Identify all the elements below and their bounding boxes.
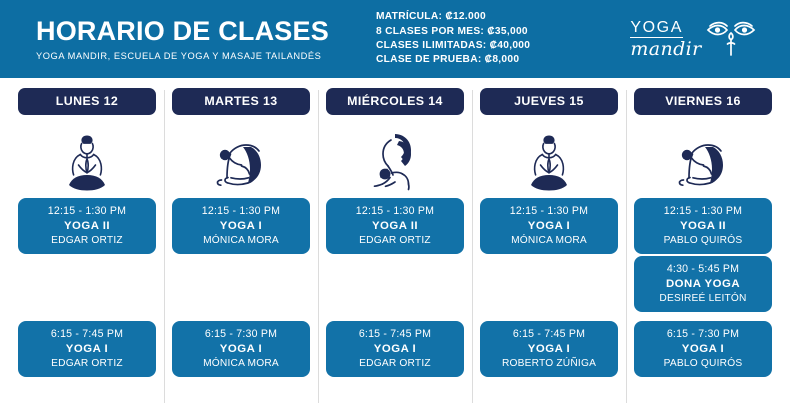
slot-midday-viernes: 4:30 - 5:45 PM DONA YOGA DESIREÉ LEITÓN bbox=[634, 254, 772, 315]
kneeling-backbend-pose-icon bbox=[207, 131, 275, 193]
class-teacher: EDGAR ORTIZ bbox=[330, 235, 460, 246]
logo-text-yoga: YOGA bbox=[630, 20, 683, 38]
class-name: YOGA I bbox=[22, 343, 152, 355]
slot-morning-viernes: 12:15 - 1:30 PM YOGA II PABLO QUIRÓS bbox=[634, 115, 772, 254]
class-card[interactable]: 12:15 - 1:30 PM YOGA II PABLO QUIRÓS bbox=[634, 198, 772, 254]
class-time: 6:15 - 7:45 PM bbox=[22, 328, 152, 340]
slot-evening-miercoles: 6:15 - 7:45 PM YOGA I EDGAR ORTIZ bbox=[326, 315, 464, 407]
day-column-viernes: VIERNES 16 bbox=[626, 88, 780, 407]
class-teacher: DESIREÉ LEITÓN bbox=[638, 293, 768, 304]
class-card[interactable]: 6:15 - 7:30 PM YOGA I MÓNICA MORA bbox=[172, 321, 310, 377]
header-title-block: HORARIO DE CLASES YOGA MANDIR, ESCUELA D… bbox=[0, 17, 376, 61]
class-time: 12:15 - 1:30 PM bbox=[176, 205, 306, 217]
class-name: YOGA I bbox=[330, 343, 460, 355]
class-time: 6:15 - 7:30 PM bbox=[176, 328, 306, 340]
class-time: 12:15 - 1:30 PM bbox=[22, 205, 152, 217]
slot-morning-lunes: 12:15 - 1:30 PM YOGA II EDGAR ORTIZ bbox=[18, 115, 156, 254]
slot-evening-martes: 6:15 - 7:30 PM YOGA I MÓNICA MORA bbox=[172, 315, 310, 407]
day-column-lunes: LUNES 12 bbox=[10, 88, 164, 407]
class-name: YOGA II bbox=[638, 220, 768, 232]
lotus-meditation-pose-icon bbox=[518, 131, 580, 193]
class-teacher: EDGAR ORTIZ bbox=[22, 235, 152, 246]
price-item-8-clases: 8 CLASES POR MES: ₡35,000 bbox=[376, 25, 616, 39]
slot-midday-miercoles bbox=[326, 254, 464, 315]
day-column-martes: MARTES 13 bbox=[164, 88, 318, 407]
schedule-grid: LUNES 12 bbox=[0, 78, 790, 413]
class-time: 12:15 - 1:30 PM bbox=[638, 205, 768, 217]
page-subtitle: YOGA MANDIR, ESCUELA DE YOGA Y MASAJE TA… bbox=[36, 51, 376, 61]
day-header-martes[interactable]: MARTES 13 bbox=[172, 88, 310, 115]
class-teacher: MÓNICA MORA bbox=[176, 235, 306, 246]
price-item-ilimitadas: CLASES ILIMITADAS: ₡40,000 bbox=[376, 39, 616, 53]
class-card[interactable]: 6:15 - 7:45 PM YOGA I ROBERTO ZÚÑIGA bbox=[480, 321, 618, 377]
class-name: YOGA I bbox=[484, 343, 614, 355]
day-column-jueves: JUEVES 15 bbox=[472, 88, 626, 407]
class-time: 4:30 - 5:45 PM bbox=[638, 263, 768, 275]
slot-midday-lunes bbox=[18, 254, 156, 315]
lotus-meditation-pose-icon bbox=[56, 131, 118, 193]
class-card[interactable]: 12:15 - 1:30 PM YOGA I MÓNICA MORA bbox=[480, 198, 618, 254]
class-name: YOGA I bbox=[638, 343, 768, 355]
forearm-stand-scorpion-pose-icon bbox=[365, 131, 425, 193]
day-header-viernes[interactable]: VIERNES 16 bbox=[634, 88, 772, 115]
slot-midday-jueves bbox=[480, 254, 618, 315]
class-teacher: MÓNICA MORA bbox=[484, 235, 614, 246]
pricing-list: MATRÍCULA: ₡12.000 8 CLASES POR MES: ₡35… bbox=[376, 10, 616, 68]
class-time: 12:15 - 1:30 PM bbox=[484, 205, 614, 217]
day-header-miercoles[interactable]: MIÉRCOLES 14 bbox=[326, 88, 464, 115]
class-teacher: EDGAR ORTIZ bbox=[22, 358, 152, 369]
slot-midday-martes bbox=[172, 254, 310, 315]
slot-morning-jueves: 12:15 - 1:30 PM YOGA I MÓNICA MORA bbox=[480, 115, 618, 254]
brand-logo: YOGA mandir bbox=[616, 17, 790, 62]
class-time: 6:15 - 7:45 PM bbox=[484, 328, 614, 340]
class-card[interactable]: 6:15 - 7:45 PM YOGA I EDGAR ORTIZ bbox=[18, 321, 156, 377]
class-card[interactable]: 6:15 - 7:45 PM YOGA I EDGAR ORTIZ bbox=[326, 321, 464, 377]
page-title: HORARIO DE CLASES bbox=[36, 17, 376, 45]
class-name: YOGA II bbox=[22, 220, 152, 232]
slot-evening-viernes: 6:15 - 7:30 PM YOGA I PABLO QUIRÓS bbox=[634, 315, 772, 407]
class-name: YOGA I bbox=[484, 220, 614, 232]
day-column-miercoles: MIÉRCOLES 14 bbox=[318, 88, 472, 407]
day-header-lunes[interactable]: LUNES 12 bbox=[18, 88, 156, 115]
class-card[interactable]: 12:15 - 1:30 PM YOGA I MÓNICA MORA bbox=[172, 198, 310, 254]
class-card[interactable]: 12:15 - 1:30 PM YOGA II EDGAR ORTIZ bbox=[18, 198, 156, 254]
class-name: YOGA II bbox=[330, 220, 460, 232]
class-card[interactable]: 4:30 - 5:45 PM DONA YOGA DESIREÉ LEITÓN bbox=[634, 256, 772, 312]
slot-evening-jueves: 6:15 - 7:45 PM YOGA I ROBERTO ZÚÑIGA bbox=[480, 315, 618, 407]
slot-morning-miercoles: 12:15 - 1:30 PM YOGA II EDGAR ORTIZ bbox=[326, 115, 464, 254]
slot-evening-lunes: 6:15 - 7:45 PM YOGA I EDGAR ORTIZ bbox=[18, 315, 156, 407]
class-name: YOGA I bbox=[176, 343, 306, 355]
price-item-prueba: CLASE DE PRUEBA: ₡8,000 bbox=[376, 53, 616, 67]
class-teacher: PABLO QUIRÓS bbox=[638, 358, 768, 369]
class-time: 6:15 - 7:45 PM bbox=[330, 328, 460, 340]
slot-morning-martes: 12:15 - 1:30 PM YOGA I MÓNICA MORA bbox=[172, 115, 310, 254]
class-time: 6:15 - 7:30 PM bbox=[638, 328, 768, 340]
price-item-matricula: MATRÍCULA: ₡12.000 bbox=[376, 10, 616, 24]
day-header-jueves[interactable]: JUEVES 15 bbox=[480, 88, 618, 115]
kneeling-backbend-pose-icon bbox=[669, 131, 737, 193]
buddha-eyes-icon bbox=[704, 17, 758, 62]
class-card[interactable]: 6:15 - 7:30 PM YOGA I PABLO QUIRÓS bbox=[634, 321, 772, 377]
class-name: DONA YOGA bbox=[638, 278, 768, 290]
class-time: 12:15 - 1:30 PM bbox=[330, 205, 460, 217]
class-teacher: MÓNICA MORA bbox=[176, 358, 306, 369]
class-card[interactable]: 12:15 - 1:30 PM YOGA II EDGAR ORTIZ bbox=[326, 198, 464, 254]
class-name: YOGA I bbox=[176, 220, 306, 232]
class-teacher: EDGAR ORTIZ bbox=[330, 358, 460, 369]
logo-text-mandir: mandir bbox=[630, 40, 701, 59]
class-teacher: ROBERTO ZÚÑIGA bbox=[484, 358, 614, 369]
class-teacher: PABLO QUIRÓS bbox=[638, 235, 768, 246]
header-banner: HORARIO DE CLASES YOGA MANDIR, ESCUELA D… bbox=[0, 0, 790, 78]
